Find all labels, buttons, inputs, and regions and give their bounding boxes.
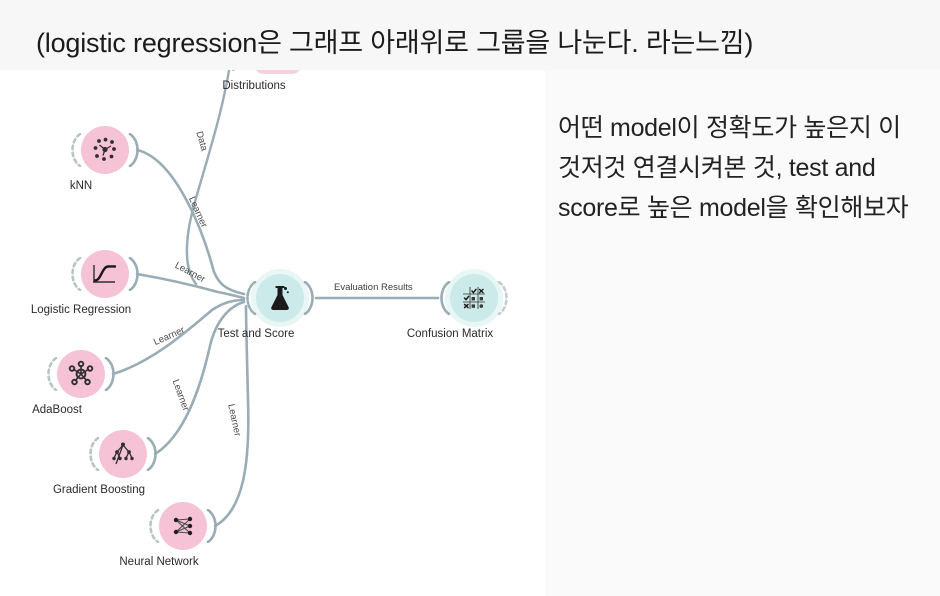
tree-icon: [108, 439, 138, 469]
gradient-boosting-output-port[interactable]: [145, 437, 161, 471]
neural-network-output-port[interactable]: [205, 509, 221, 543]
flask-icon: [265, 283, 295, 313]
logistic-regression-output-port[interactable]: [127, 257, 143, 291]
neural-network-circle[interactable]: [159, 502, 207, 550]
screenshot-root: (logistic regression은 그래프 아래위로 그룹을 나눈다. …: [0, 0, 940, 596]
mesh-network-icon: [168, 511, 198, 541]
test-and-score-output-port[interactable]: [302, 281, 318, 315]
confusion-matrix-circle[interactable]: [450, 274, 498, 322]
logistic-regression-circle[interactable]: [81, 250, 129, 298]
annotation-panel: 어떤 model이 정확도가 높은지 이것저것 연결시켜본 것, test an…: [545, 70, 940, 596]
node-gradient-boosting-label: Gradient Boosting: [53, 484, 145, 496]
adaboost-output-port[interactable]: [103, 357, 119, 391]
title-band: (logistic regression은 그래프 아래위로 그룹을 나눈다. …: [0, 0, 940, 70]
distributions-node-cutoff[interactable]: [254, 70, 302, 74]
node-knn-label: kNN: [70, 180, 92, 192]
confusion-matrix-output-port[interactable]: [496, 281, 512, 315]
annotation-text: 어떤 model이 정확도가 높은지 이것저것 연결시켜본 것, test an…: [558, 108, 918, 228]
grid-check-icon: [459, 283, 489, 313]
knn-output-port[interactable]: [127, 133, 143, 167]
node-neural-network-label: Neural Network: [119, 556, 198, 568]
test-and-score-circle[interactable]: [256, 274, 304, 322]
scatter-dots-icon: [90, 135, 120, 165]
sigmoid-curve-icon: [90, 259, 120, 289]
node-test-and-score-label: Test and Score: [218, 328, 295, 340]
node-confusion-matrix-label: Confusion Matrix: [407, 328, 493, 340]
hub-graph-icon: [66, 359, 96, 389]
node-logistic-regression-label: Logistic Regression: [31, 304, 131, 316]
link-path-data: [187, 70, 232, 284]
page-title: (logistic regression은 그래프 아래위로 그룹을 나눈다. …: [36, 26, 753, 60]
node-distributions-label: Distributions: [222, 80, 285, 92]
edge-label-evaluation: Evaluation Results: [334, 282, 413, 293]
distributions-port-tick: [232, 70, 235, 71]
knn-circle[interactable]: [81, 126, 129, 174]
workflow-canvas[interactable]: Distributions: [0, 70, 545, 596]
gradient-boosting-circle[interactable]: [99, 430, 147, 478]
node-adaboost-label: AdaBoost: [32, 404, 82, 416]
adaboost-circle[interactable]: [57, 350, 105, 398]
